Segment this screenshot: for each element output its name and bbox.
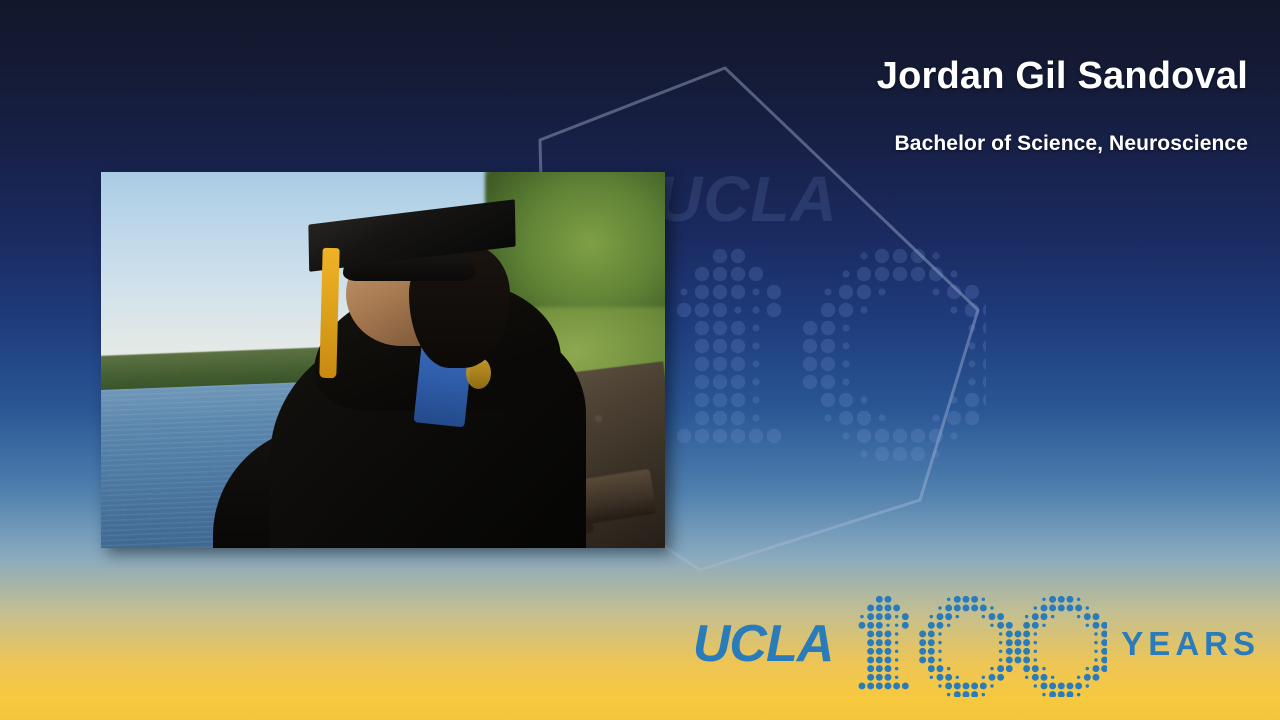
- graduate-gold-tassel: [319, 248, 339, 378]
- graduate-title-block: Jordan Gil Sandoval Bachelor of Science,…: [877, 56, 1248, 156]
- watermark-ucla-wordmark: UCLA: [656, 162, 838, 236]
- ucla-100-years-logo: UCLA YEARS: [690, 590, 1260, 700]
- logo-years-label: YEARS: [1121, 627, 1260, 663]
- graduate-photo: [101, 172, 665, 548]
- logo-100-dot-icon: [847, 593, 1107, 697]
- graduation-slide: UCLA: [0, 0, 1280, 720]
- graduate-degree: Bachelor of Science, Neuroscience: [877, 132, 1248, 156]
- photo-graduate-figure: [270, 187, 586, 548]
- graduate-name: Jordan Gil Sandoval: [877, 56, 1248, 98]
- watermark-group: UCLA: [620, 140, 1020, 470]
- watermark-100-dot-icon: [656, 244, 986, 474]
- photo-canvas: [101, 172, 665, 548]
- logo-ucla-wordmark: UCLA: [693, 618, 833, 672]
